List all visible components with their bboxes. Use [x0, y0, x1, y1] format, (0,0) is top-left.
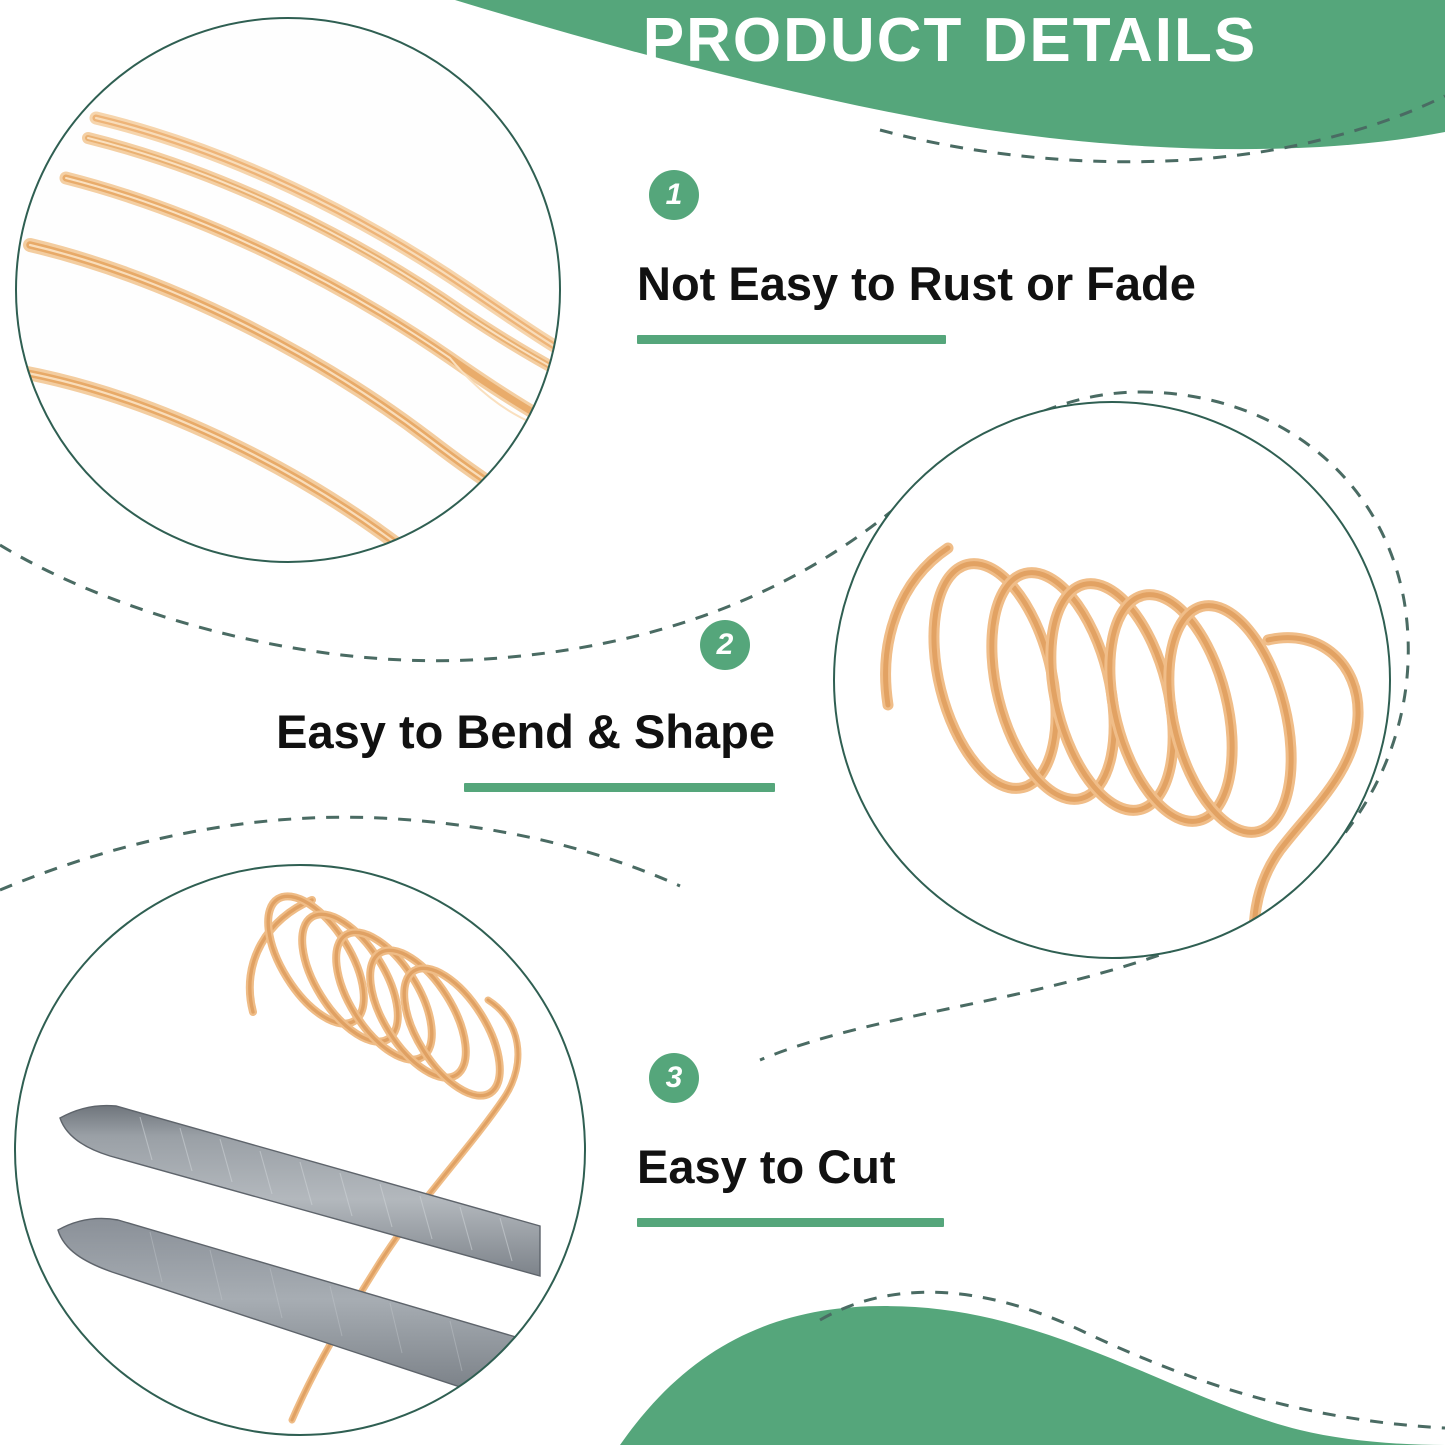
feature-block-2: 2 Easy to Bend & Shape [250, 620, 775, 792]
copper-wire-strands-photo [10, 14, 600, 672]
feature-underline-2 [464, 783, 775, 792]
product-details-infographic: PRODUCT DETAILS 1 Not Easy to Rust or Fa… [0, 0, 1445, 1445]
footer-wave-shape [620, 1306, 1445, 1445]
copper-wire-coil-photo [834, 402, 1390, 960]
feature-underline-1 [637, 335, 946, 344]
feature-title-2: Easy to Bend & Shape [250, 708, 775, 755]
feature-title-1: Not Easy to Rust or Fade [637, 260, 1196, 307]
scissors-cutting-wire-photo [15, 865, 585, 1435]
feature-block-1: 1 Not Easy to Rust or Fade [637, 170, 1196, 344]
feature-underline-3 [637, 1218, 944, 1227]
feature-block-3: 3 Easy to Cut [637, 1053, 944, 1227]
feature-number-badge-1: 1 [649, 170, 699, 220]
feature-number-badge-3: 3 [649, 1053, 699, 1103]
feature-number-badge-2: 2 [700, 620, 750, 670]
feature-title-3: Easy to Cut [637, 1143, 944, 1190]
page-title: PRODUCT DETAILS [600, 8, 1300, 73]
